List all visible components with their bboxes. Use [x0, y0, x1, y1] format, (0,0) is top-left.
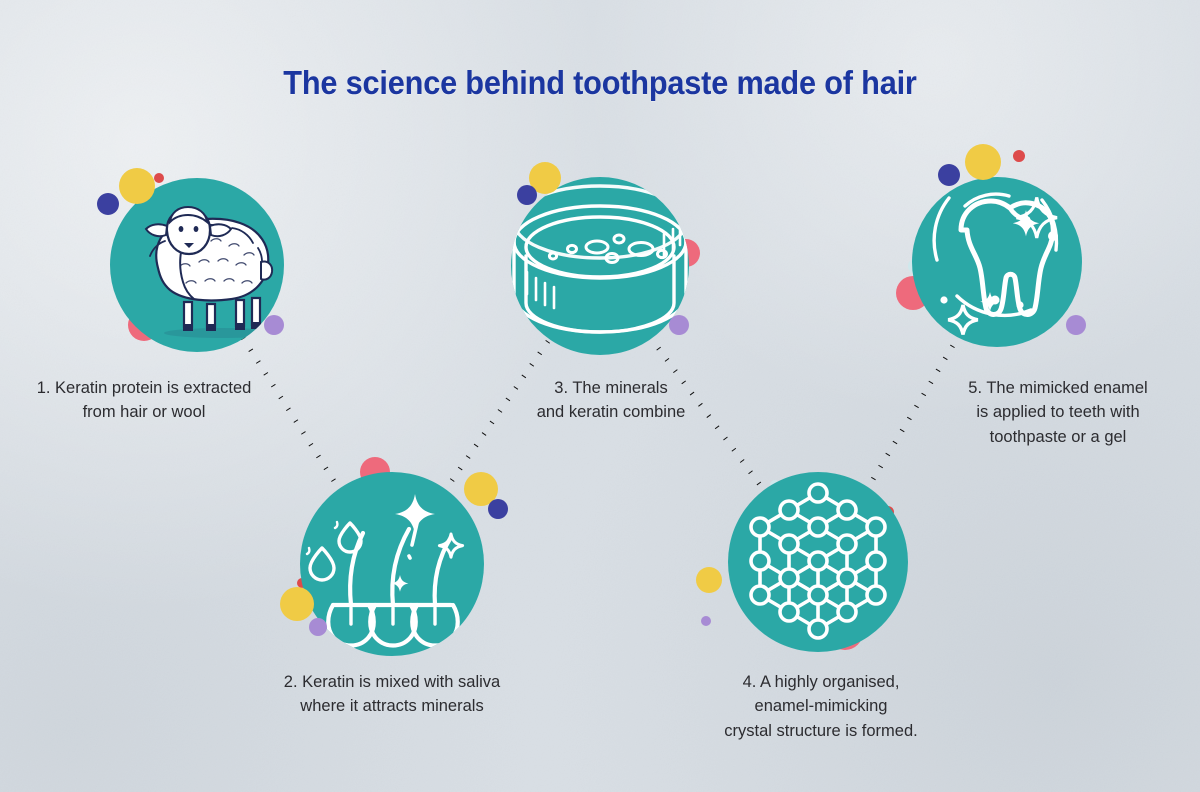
decorative-dot	[154, 173, 164, 183]
step-1-node[interactable]	[110, 178, 284, 352]
decorative-dot	[701, 616, 711, 626]
decorative-dot	[264, 315, 284, 335]
decorative-dot	[1013, 150, 1025, 162]
decorative-dot	[517, 185, 537, 205]
step-4-caption: 4. A highly organised, enamel-mimicking …	[692, 670, 950, 743]
step-2-node[interactable]	[300, 472, 484, 656]
step-2-caption: 2. Keratin is mixed with saliva where it…	[252, 670, 532, 719]
decorative-dot	[97, 193, 119, 215]
decorative-dot	[119, 168, 155, 204]
decorative-dot	[1066, 315, 1086, 335]
step-3-node[interactable]	[511, 177, 689, 355]
decorative-dot	[696, 567, 722, 593]
step-3-caption: 3. The minerals and keratin combine	[500, 376, 722, 425]
decorative-dot	[488, 499, 508, 519]
step-5-node[interactable]	[912, 177, 1082, 347]
step-5-caption: 5. The mimicked enamel is applied to tee…	[938, 376, 1178, 449]
step-1-caption: 1. Keratin protein is extracted from hai…	[8, 376, 280, 425]
step-4-node[interactable]	[728, 472, 908, 652]
decorative-dot	[669, 315, 689, 335]
decorative-dot	[280, 587, 314, 621]
decorative-dot	[965, 144, 1001, 180]
decorative-dot	[938, 164, 960, 186]
decorative-dot	[309, 618, 327, 636]
